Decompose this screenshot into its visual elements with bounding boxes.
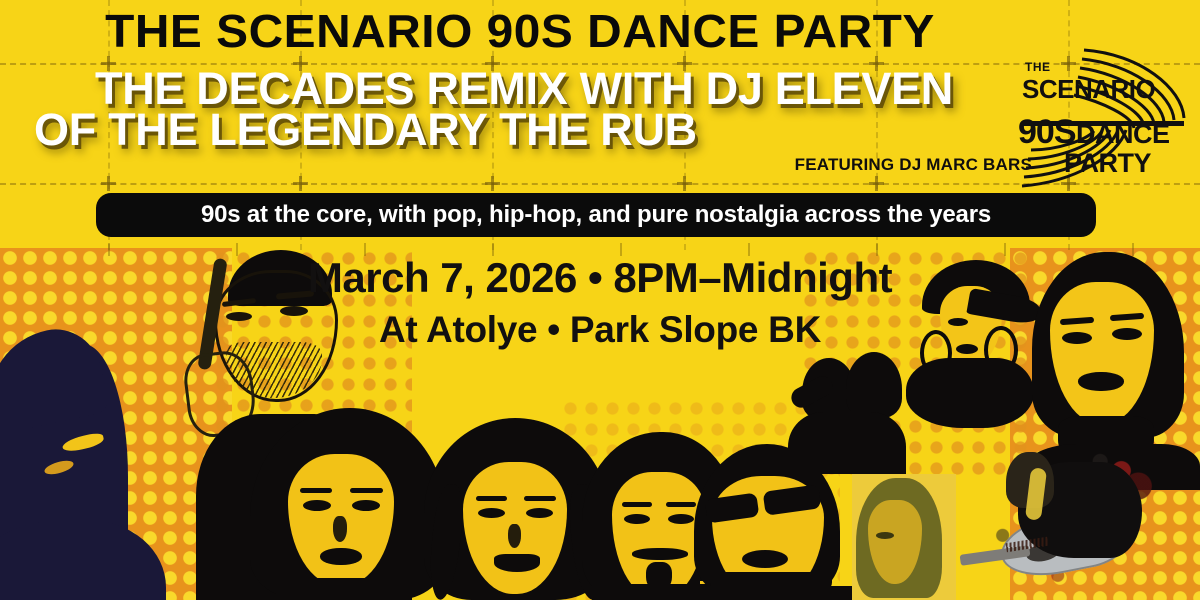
stencil-portrait-blonde-woman-nose [508,524,521,548]
stencil-portrait-curly-hair-woman-nose [333,516,347,542]
stencil-portrait-curly-hair-woman-eye-l [303,500,331,511]
silhouette-portrait-cap-hoop-earrings-body [906,358,1034,428]
stencil-portrait-curly-hair-woman-brow-r [350,488,383,493]
stencil-portrait-braided-man-moustache [632,548,688,560]
stencil-portrait-curly-hair-woman-brow-l [300,488,332,493]
stencil-portrait-blonde-woman-brow-r [524,496,556,501]
stencil-portrait-duo-small-b [846,352,902,418]
scenario-logo-the: THE [1025,60,1051,74]
stencil-portrait-braided-man-brow-r [666,502,696,507]
stencil-portrait-curly-hair-woman-eye-r [352,500,380,511]
stencil-portrait-braided-man-eye-r [668,514,694,524]
poster-subtitle-line-2: OF THE LEGENDARY THE RUB [24,109,1024,150]
scenario-logo-party: PARTY [1064,148,1151,178]
scenario-logo-scenario: SCENARIO [1022,74,1156,104]
tagline-text: 90s at the core, with pop, hip-hop, and … [201,201,991,229]
scenario-logo-90s: 90S [1018,113,1076,151]
poster-subtitle-line-1: THE DECADES REMIX WITH DJ ELEVEN [24,68,1024,109]
stencil-portrait-blonde-woman-brow-l [476,496,507,501]
stencil-portrait-curly-hair-woman-neck [276,578,412,600]
scenario-logo-svg: THE SCENARIO 90S DANCE PARTY [1014,44,1190,192]
olive-tinted-portrait-eye [876,532,894,539]
scenario-logo: THE SCENARIO 90S DANCE PARTY [1014,44,1190,192]
event-details: March 7, 2026 • 8PM–Midnight At Atolye •… [0,252,1200,356]
stencil-portrait-blonde-woman-eye-r [526,508,553,518]
scenario-logo-dance: DANCE [1076,119,1170,149]
featuring-credit: FEATURING DJ MARC BARS [795,155,1032,175]
stencil-portrait-blonde-woman-eye-l [478,508,505,518]
stencil-portrait-woman-right-lips [1078,372,1124,391]
page-title: THE SCENARIO 90S DANCE PARTY [0,6,1061,56]
stencil-portrait-blonde-woman-smile [494,554,540,572]
poster-subtitle: THE DECADES REMIX WITH DJ ELEVEN OF THE … [24,68,1024,150]
stencil-portrait-duo-small-body [788,412,906,474]
stencil-portrait-braided-man-eye-l [624,514,650,524]
stencil-portrait-curly-hair-woman-lips [320,548,362,565]
event-date-time: March 7, 2026 • 8PM–Midnight [0,252,1200,304]
stencil-portrait-braided-man-brow-l [622,502,652,507]
event-venue: At Atolye • Park Slope BK [0,304,1200,356]
stencil-portrait-man-sunglasses-mouth [742,550,788,568]
stencil-portrait-man-sunglasses-shoulder [688,586,852,600]
event-poster: THE SCENARIO 90S DANCE PARTY THE DECADES… [0,0,1200,600]
tagline-banner: 90s at the core, with pop, hip-hop, and … [96,193,1096,237]
